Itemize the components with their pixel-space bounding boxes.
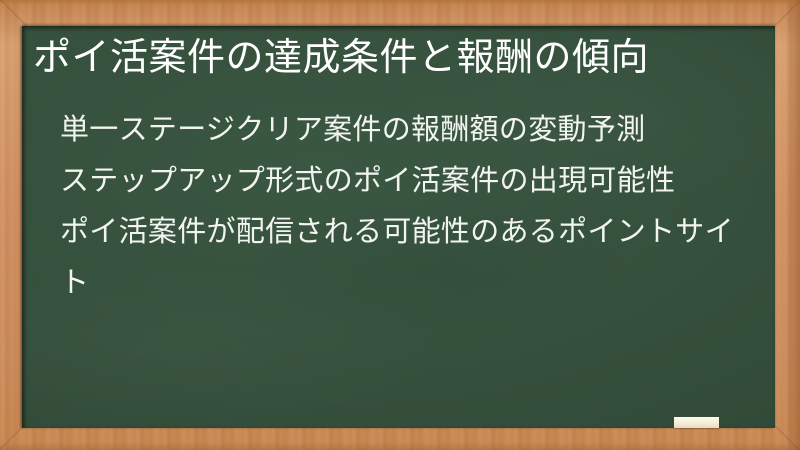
frame-bottom-shadow (0, 442, 800, 450)
frame-right-shadow (784, 0, 800, 450)
list-item: 単一ステージクリア案件の報酬額の変動予測 (60, 104, 760, 155)
frame-top-shadow (0, 0, 800, 5)
slide-topic-list: 単一ステージクリア案件の報酬額の変動予測 ステップアップ形式のポイ活案件の出現可… (60, 104, 760, 308)
chalkboard-content: ポイ活案件の達成条件と報酬の傾向 単一ステージクリア案件の報酬額の変動予測 ステ… (22, 26, 775, 428)
slide-screenshot: ポイ活案件の達成条件と報酬の傾向 単一ステージクリア案件の報酬額の変動予測 ステ… (0, 0, 800, 450)
list-item: ポイ活案件が配信される可能性のあるポイントサイト (60, 206, 760, 308)
chalk-stick (674, 417, 719, 428)
list-item: ステップアップ形式のポイ活案件の出現可能性 (60, 155, 760, 206)
chalkboard-surface: ポイ活案件の達成条件と報酬の傾向 単一ステージクリア案件の報酬額の変動予測 ステ… (22, 26, 775, 428)
slide-title: ポイ活案件の達成条件と報酬の傾向 (33, 31, 763, 83)
